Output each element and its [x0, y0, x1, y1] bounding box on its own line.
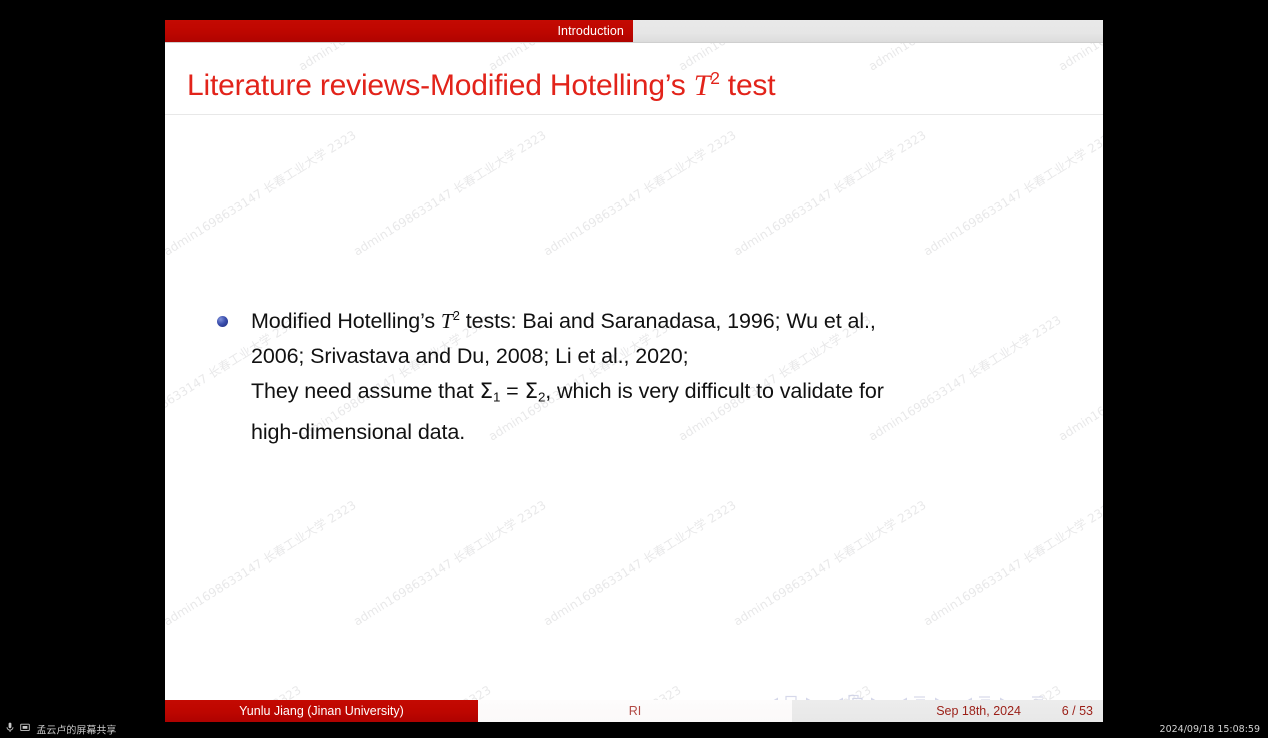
footline-date: Sep 18th, 2024 — [936, 700, 1021, 722]
slide-body: Modified Hotelling’s T2 tests: Bai and S… — [220, 298, 1070, 450]
bullet-line3-b: , which is very difficult to validate fo… — [545, 379, 883, 403]
presentation-slide: admin1698633147 长春工业大学 2323admin16986331… — [165, 20, 1103, 722]
taskbar-share-label: 孟云卢的屏幕共享 — [36, 726, 116, 737]
watermark-text: admin1698633147 长春工业大学 2323 — [165, 126, 359, 259]
microphone-icon[interactable] — [6, 722, 14, 738]
watermark-text: admin1698633147 长春工业大学 2323 — [540, 126, 739, 259]
bullet-equals: = — [500, 379, 524, 403]
frame-title-pre: Literature reviews-Modified Hotelling’s — [187, 69, 694, 102]
footline-meta: Sep 18th, 2024 6 / 53 — [792, 700, 1103, 722]
bullet-line4: high-dimensional data. — [251, 420, 465, 444]
taskbar-clock: 2024/09/18 15:08:59 — [1160, 722, 1260, 738]
bullet-text: Modified Hotelling’s T2 tests: Bai and S… — [251, 298, 1070, 450]
slide-headline-bar: Introduction — [165, 20, 1103, 42]
bullet-line1-a: Modified Hotelling’s — [251, 309, 441, 333]
slide-footline: Yunlu Jiang (Jinan University) RI Sep 18… — [165, 700, 1103, 722]
footline-short-title: RI — [478, 700, 792, 722]
watermark-text: admin1698633147 长春工业大学 2323 — [920, 126, 1103, 259]
footline-page-number: 6 / 53 — [1062, 700, 1093, 722]
frame-title: Literature reviews-Modified Hotelling’s … — [187, 60, 1087, 104]
taskbar: 孟云卢的屏幕共享 2024/09/18 15:08:59 — [0, 722, 1268, 738]
frame-title-math-sup: 2 — [710, 68, 719, 88]
watermark-text: admin1698633147 长春工业大学 2323 — [920, 496, 1103, 629]
watermark-text: admin1698633147 长春工业大学 2323 — [730, 496, 929, 629]
screen-root: admin1698633147 长春工业大学 2323admin16986331… — [0, 0, 1268, 738]
footline-author: Yunlu Jiang (Jinan University) — [165, 700, 478, 722]
watermark-text: admin1698633147 长春工业大学 2323 — [540, 496, 739, 629]
bullet-line1-b: tests: Bai and Saranadasa, 1996; Wu et a… — [460, 309, 876, 333]
title-rule — [165, 114, 1103, 115]
watermark-text: admin1698633147 长春工业大学 2323 — [350, 126, 549, 259]
headline-tab-introduction[interactable]: Introduction — [165, 20, 633, 42]
bullet-sigma-2: Σ — [524, 379, 538, 404]
bullet-line1-math-sup: 2 — [453, 308, 460, 323]
watermark-text: admin1698633147 长春工业大学 2323 — [350, 496, 549, 629]
taskbar-share-indicator[interactable]: 孟云卢的屏幕共享 — [6, 722, 116, 738]
bullet-item: Modified Hotelling’s T2 tests: Bai and S… — [220, 298, 1070, 450]
bullet-line3-a: They need assume that — [251, 379, 479, 403]
bullet-sigma-1: Σ — [479, 379, 493, 404]
watermark-text: admin1698633147 长春工业大学 2323 — [165, 496, 359, 629]
headline-separator — [165, 42, 1103, 43]
bullet-line2: 2006; Srivastava and Du, 2008; Li et al.… — [251, 344, 689, 368]
monitor-icon[interactable] — [20, 723, 30, 738]
frame-title-post: test — [720, 69, 776, 102]
watermark-text: admin1698633147 长春工业大学 2323 — [730, 126, 929, 259]
frame-title-math-base: T — [694, 69, 711, 102]
bullet-line1-math-base: T — [441, 309, 453, 333]
